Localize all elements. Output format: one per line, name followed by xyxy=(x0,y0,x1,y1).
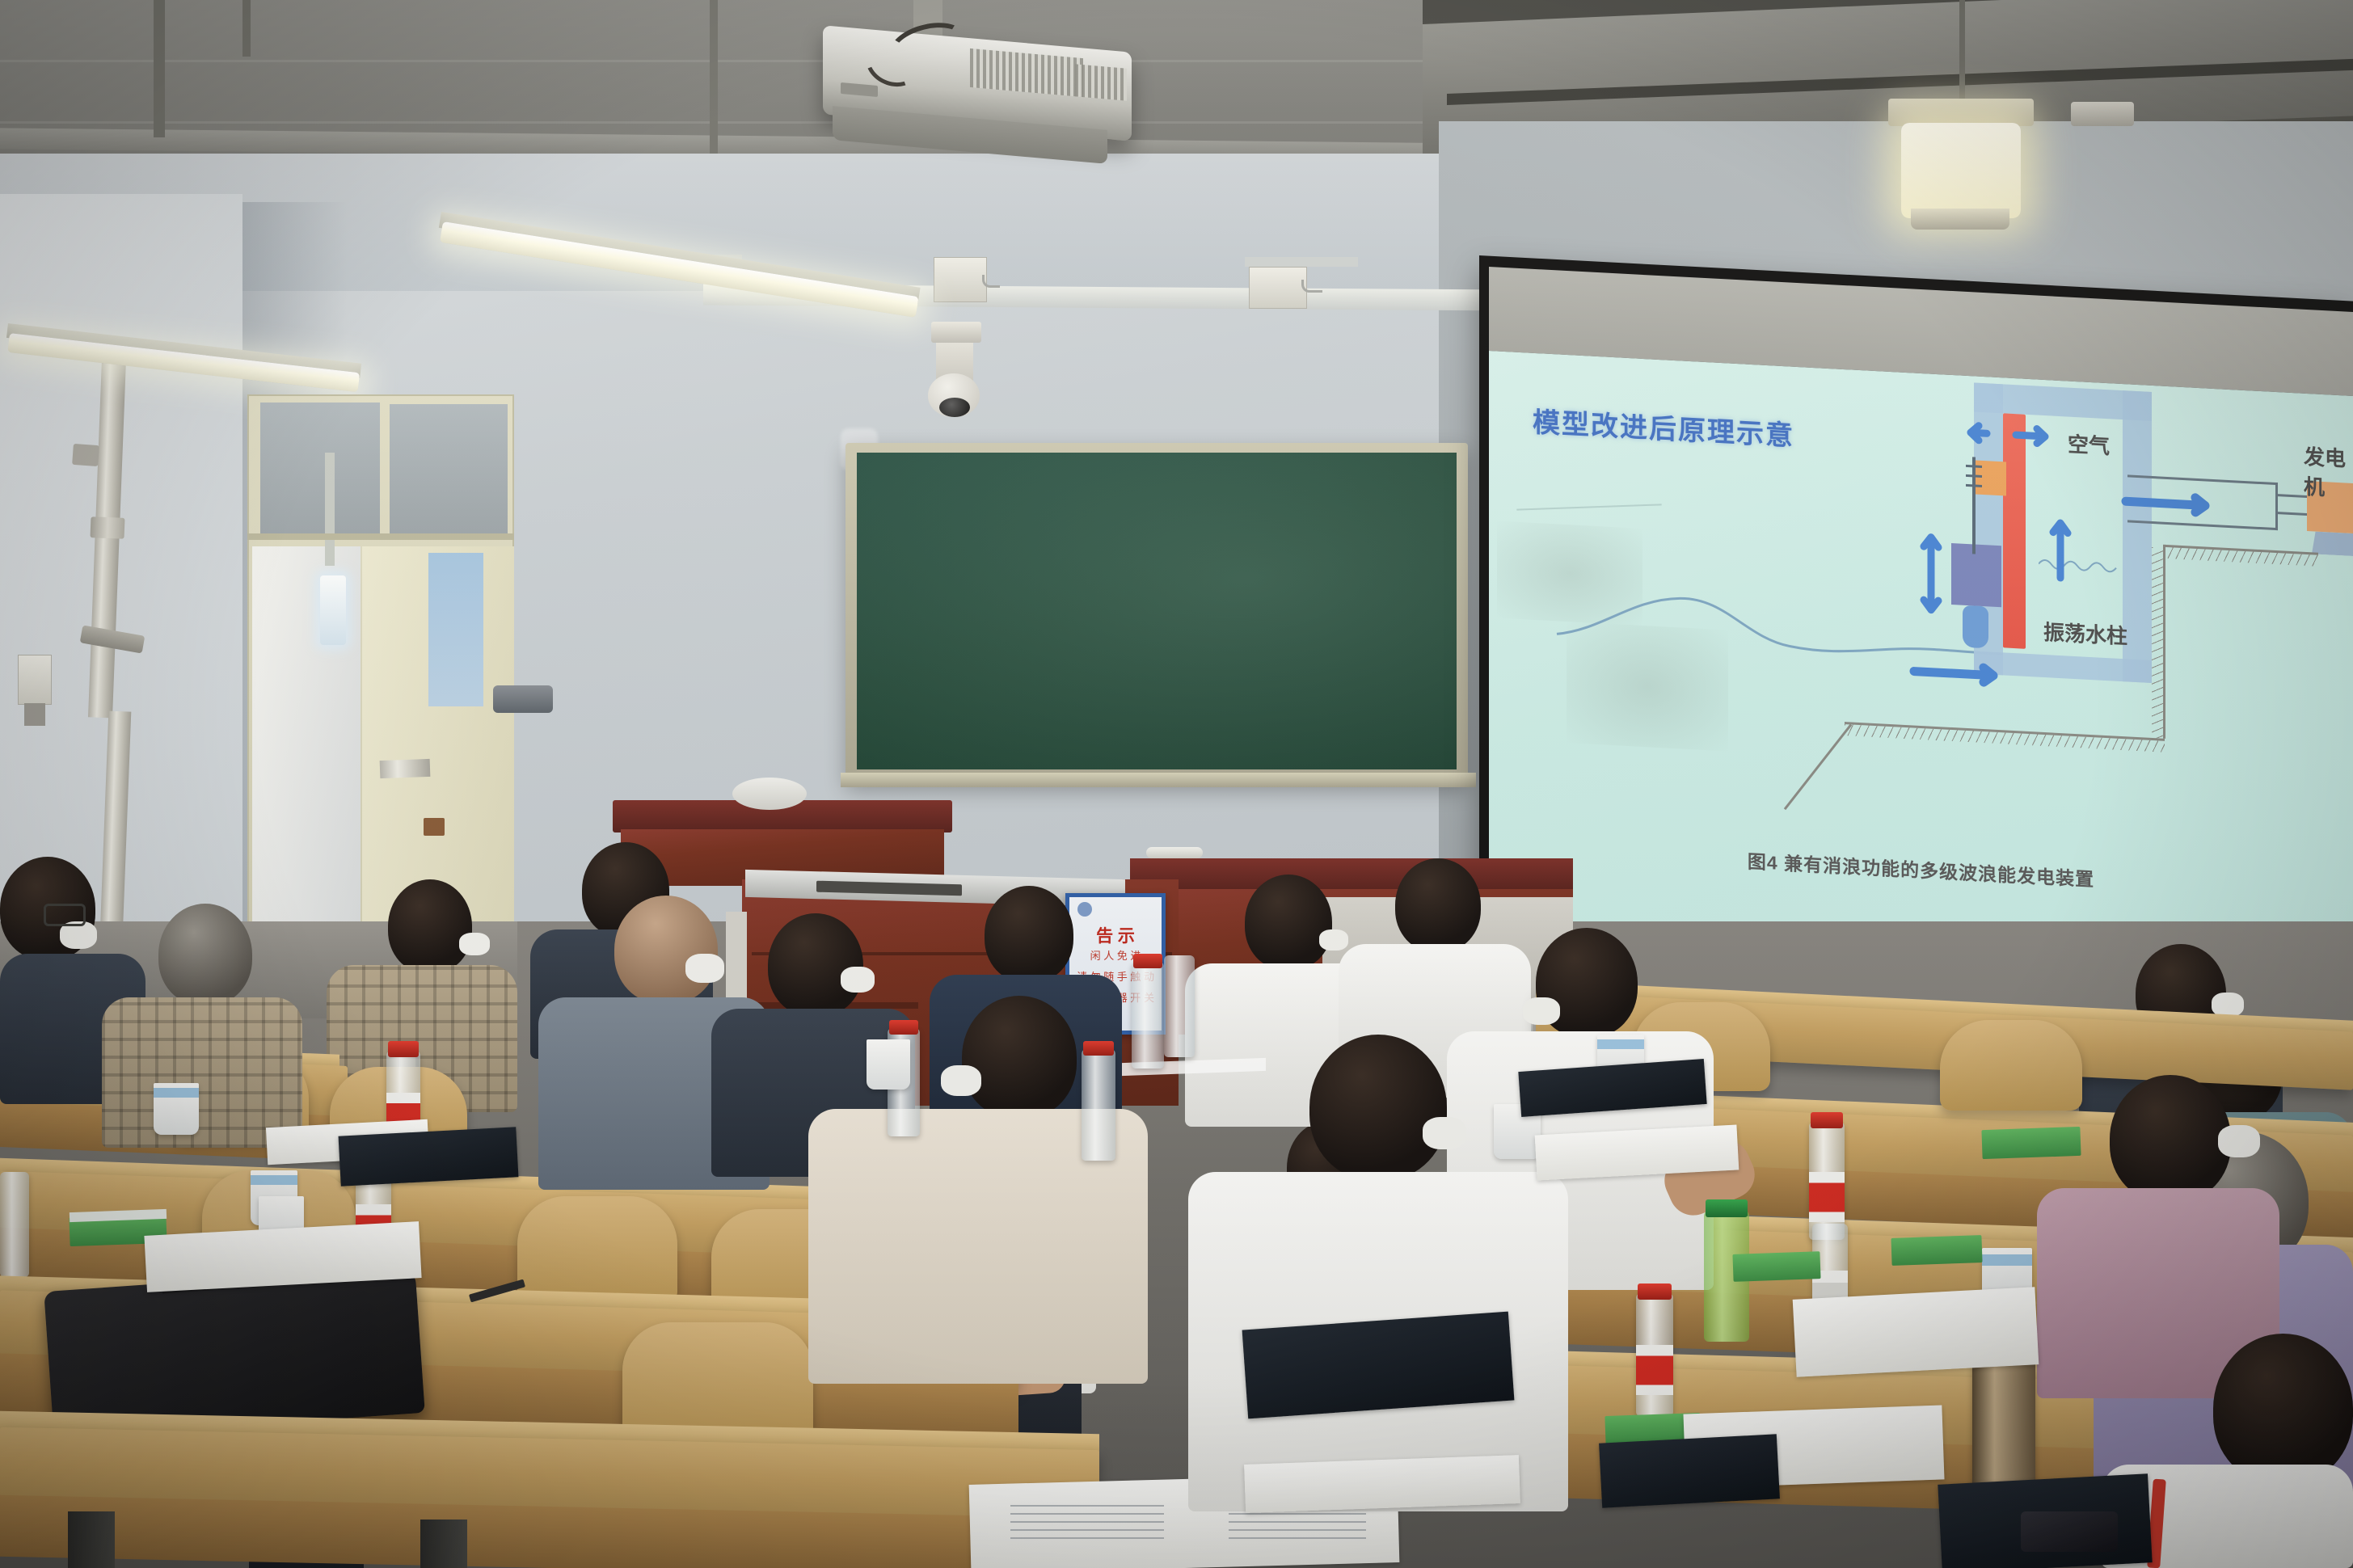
bottle-cap xyxy=(1083,1041,1114,1056)
podium-top-right xyxy=(1130,858,1573,892)
label-air: 空气 xyxy=(2068,428,2110,461)
document-paper[interactable] xyxy=(1244,1455,1520,1513)
face-mask xyxy=(941,1065,981,1096)
door-poster xyxy=(428,553,483,706)
slide-caption: 图4 兼有消浪功能的多级波浪能发电装置 xyxy=(1489,832,2353,905)
pendant-rod xyxy=(1959,0,1965,105)
cup-band xyxy=(1982,1254,2032,1266)
bottle-label xyxy=(1636,1345,1673,1395)
float-box xyxy=(1951,543,2001,607)
chalk-piece xyxy=(1146,847,1203,858)
audience-head xyxy=(2213,1334,2353,1484)
seabed-hatch-bottom xyxy=(1845,724,2165,752)
mast-crossbar xyxy=(1966,484,1982,487)
notice-logo-icon xyxy=(1077,902,1092,917)
wall-trim-small xyxy=(1245,257,1358,267)
audience-head xyxy=(1245,875,1332,970)
camera-bracket xyxy=(931,322,981,343)
device-case xyxy=(2021,1511,2118,1552)
duct-end xyxy=(2275,483,2278,530)
green-tissue-box xyxy=(1891,1235,1982,1266)
ceiling-hanger-rod xyxy=(710,0,718,162)
green-tissue-box xyxy=(1981,1127,2081,1159)
audience-head xyxy=(388,879,472,973)
mast-crossbar xyxy=(1966,465,1982,468)
face-mask xyxy=(1523,997,1560,1025)
face-mask xyxy=(459,933,490,955)
float-motion-arrow-icon xyxy=(1917,529,1945,619)
float-buoy xyxy=(1963,605,1988,649)
wall-conduit xyxy=(982,275,1000,288)
bottle-label xyxy=(1809,1172,1845,1222)
turbine-flow-arrow-icon xyxy=(2121,487,2218,520)
wall-pipe-right xyxy=(380,759,431,778)
water-bottle[interactable] xyxy=(1082,1049,1115,1161)
wall-junction-box xyxy=(1249,267,1307,309)
wall-conduit xyxy=(1301,280,1322,293)
water-rise-arrow-icon xyxy=(2047,514,2074,584)
bottle-cap xyxy=(889,1020,918,1035)
audience-head xyxy=(1395,858,1481,952)
classroom-presentation-photo: 模型改进后原理示意 xyxy=(0,0,2353,1568)
cup-band xyxy=(251,1175,297,1185)
screen-mark xyxy=(1516,504,1661,510)
wall-pipe-stub xyxy=(493,685,553,713)
ceiling-panel-seam xyxy=(0,60,1455,62)
door-handle[interactable] xyxy=(424,818,445,836)
audience-head xyxy=(158,904,252,1005)
projector-vent xyxy=(1075,64,1127,101)
shaft-line xyxy=(2278,512,2307,516)
wall-junction-box xyxy=(934,257,987,302)
audience-head xyxy=(1309,1035,1447,1180)
chalk-dish xyxy=(732,778,807,810)
face-mask xyxy=(841,967,875,993)
audience-torso xyxy=(102,997,302,1148)
ceiling-fixture xyxy=(2071,102,2134,126)
label-generator: 发电机 xyxy=(2304,440,2353,503)
cup-band xyxy=(154,1088,199,1098)
mast-crossbar xyxy=(1966,474,1982,478)
seabed-slope-icon xyxy=(1780,719,1854,820)
document-text-lines xyxy=(1010,1505,1164,1541)
glasses-icon xyxy=(44,904,86,926)
door-transom-glass xyxy=(260,403,380,537)
door-transom-glass xyxy=(390,404,508,537)
corridor-light xyxy=(320,575,346,645)
audience-head xyxy=(962,996,1077,1119)
face-mask xyxy=(1423,1117,1466,1149)
audience-head xyxy=(768,913,863,1017)
green-tissue-box xyxy=(1732,1251,1820,1282)
chair-back xyxy=(1940,1020,2082,1111)
chair-back xyxy=(517,1196,677,1303)
water-bottle[interactable] xyxy=(0,1172,29,1277)
printed-handout[interactable] xyxy=(1242,1312,1515,1419)
chalkboard-sheen xyxy=(857,453,1457,769)
bottle-cap xyxy=(388,1041,419,1057)
bottle-cap xyxy=(1638,1283,1672,1300)
slide-canvas: 模型改进后原理示意 xyxy=(1489,351,2353,975)
document-paper[interactable] xyxy=(1793,1287,2039,1377)
water-bottle[interactable] xyxy=(1132,962,1164,1069)
face-mask xyxy=(2218,1125,2260,1157)
shaft-line xyxy=(2278,494,2307,498)
lamp-shade xyxy=(1888,99,2034,126)
audience-head xyxy=(614,896,718,1004)
water-bottle[interactable] xyxy=(1164,955,1195,1057)
air-arrow-left-icon xyxy=(1959,418,2064,453)
paper-cup[interactable] xyxy=(867,1039,910,1090)
door-jamb xyxy=(325,453,335,566)
cup-band xyxy=(1597,1039,1644,1049)
pipe-clamp xyxy=(72,444,99,466)
face-mask xyxy=(1319,929,1348,950)
audience-head xyxy=(2110,1075,2231,1203)
bottle-cap xyxy=(1811,1112,1843,1128)
notice-title: 告 示 xyxy=(1069,923,1162,947)
slide-title: 模型改进后原理示意 xyxy=(1533,400,1794,453)
document-text-lines xyxy=(1229,1513,1366,1545)
door-rail xyxy=(247,533,514,540)
bottle-cap xyxy=(1706,1199,1748,1217)
desk-leg xyxy=(68,1511,115,1568)
pipe-coupling xyxy=(91,516,125,539)
camera-lens-icon xyxy=(939,398,970,417)
lamp-base xyxy=(1911,209,2009,230)
label-water-column: 振荡水柱 xyxy=(2043,616,2127,650)
inflow-arrow-icon xyxy=(1909,657,2006,689)
float-mast xyxy=(1972,457,1976,554)
audience-head xyxy=(985,886,1073,983)
light-switch-box xyxy=(18,655,52,705)
switch-shadow xyxy=(24,703,45,726)
ceiling-hanger-rod xyxy=(242,0,251,57)
chalk-ledge xyxy=(841,773,1476,787)
pendant-lamp-right xyxy=(1901,123,2021,218)
desk-leg xyxy=(420,1520,467,1568)
seabed-hatch-vertical xyxy=(2152,547,2165,739)
bottle-cap xyxy=(1133,954,1162,968)
face-mask xyxy=(685,954,724,983)
ceiling-hanger-rod xyxy=(154,0,165,137)
printed-handout[interactable] xyxy=(339,1127,519,1186)
printed-handout[interactable] xyxy=(1599,1434,1780,1507)
